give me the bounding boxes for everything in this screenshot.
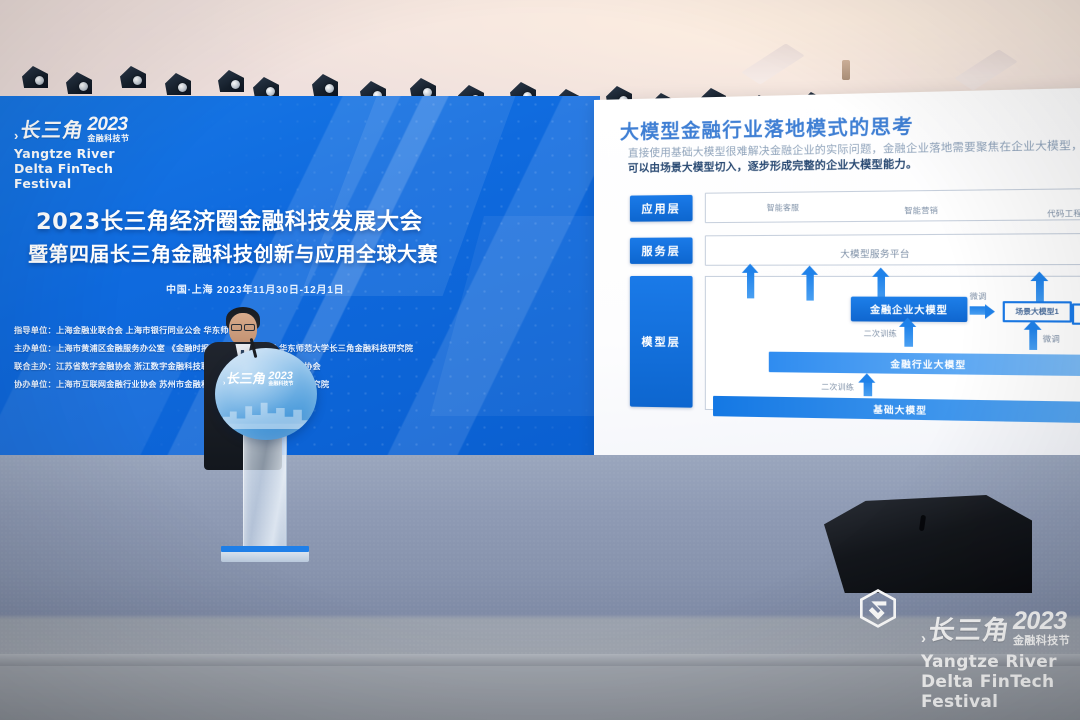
arrow-head-up [1024,320,1042,330]
watermark-year: 2023 [1013,609,1067,634]
industry-model-bar: 金融行业大模型 [769,352,1080,376]
festival-logo-en-line2: Delta FinTech [14,162,129,177]
app-item-label: 智能营销 [904,205,938,217]
festival-logo-en-line1: Yangtze River [14,147,129,162]
arrow-head-up [1030,272,1048,282]
watermark-arrow: › [921,630,926,647]
conference-stage-photo: › 长三角 2023 金融科技节 Yangtze River Delta Fin… [0,0,1080,720]
podium-base-accent [221,546,309,552]
foundation-model-bar: 基础大模型 [713,396,1080,423]
layer-tag-model: 模型层 [630,276,693,408]
arrow-shaft-up [904,326,913,347]
podium-logo-cn: 长三角 [226,368,268,387]
festival-logo-subtitle-cn: 金融科技节 [87,135,129,143]
service-platform-label: 大模型服务平台 [840,247,910,261]
arrow-label-retrain: 二次训练 [821,381,854,393]
festival-logo: › 长三角 2023 金融科技节 Yangtze River Delta Fin… [14,114,129,191]
speaker-glasses [244,324,255,331]
arrow-label-tuning: 微调 [1043,333,1060,345]
festival-logo-en-line3: Festival [14,177,129,192]
watermark-subtitle-cn: 金融科技节 [1013,636,1070,647]
conference-title-line1: 2023长三角经济圈金融科技发展大会 [36,204,423,236]
podium-logo-sub: 金融科技节 [268,382,293,387]
conference-title-line2: 暨第四届长三角金融科技创新与应用全球大赛 [28,238,438,267]
arrow-head-right [985,304,995,319]
scenario-model-box: 场景大模型2 [1072,303,1080,325]
festival-logo-cn: 长三角 [19,114,87,143]
podium-column [243,428,287,556]
festival-watermark: › 长三角 2023 金融科技节 Yangtze River Delta Fin… [877,609,1070,712]
layer-tag-application: 应用层 [630,195,693,222]
speaker-glasses [231,324,242,331]
application-layer-row [705,188,1080,223]
app-item-label: 智能客服 [767,202,800,214]
watermark-en-line3: Festival [921,692,1070,712]
arrow-shaft-up [747,272,754,299]
watermark-cn: 长三角 [926,610,1013,647]
app-item-label: 代码工程 [1047,207,1080,219]
arrow-head-up [872,268,889,277]
arrow-shaft-up [806,274,813,301]
podium-logo-panel: › 长三角 2023 金融科技节 [215,348,317,440]
podium-skyline-graphic [223,394,309,429]
watermark-en-line1: Yangtze River [921,652,1070,672]
stage-monitor-speaker [824,495,1032,593]
watermark-en-line2: Delta FinTech [921,672,1070,692]
wall-mounted-speaker [842,60,850,80]
layer-tag-service: 服务层 [630,237,693,263]
arrow-head-up [858,373,875,383]
conference-date: 中国·上海 2023年11月30日-12月1日 [166,281,344,296]
festival-logo-year: 2023 [87,115,127,134]
festival-logo-arrow: › [14,128,18,143]
arrow-label-tuning: 微调 [970,291,987,303]
arrow-head-up [801,266,818,275]
slide-title: 大模型金融行业落地模式的思考 [620,111,914,145]
arrow-head-up [899,317,916,326]
arrow-shaft-up [1029,329,1037,350]
arrow-head-up [742,264,759,273]
arrow-label-retrain: 二次训练 [864,328,897,340]
organizer-line: 指导单位：上海金融业联合会 上海市银行同业公会 华东师范大学 [14,324,254,336]
projection-screen: 大模型金融行业落地模式的思考 直接使用基础大模型很难解决金融企业的实际问题，金融… [594,87,1080,472]
